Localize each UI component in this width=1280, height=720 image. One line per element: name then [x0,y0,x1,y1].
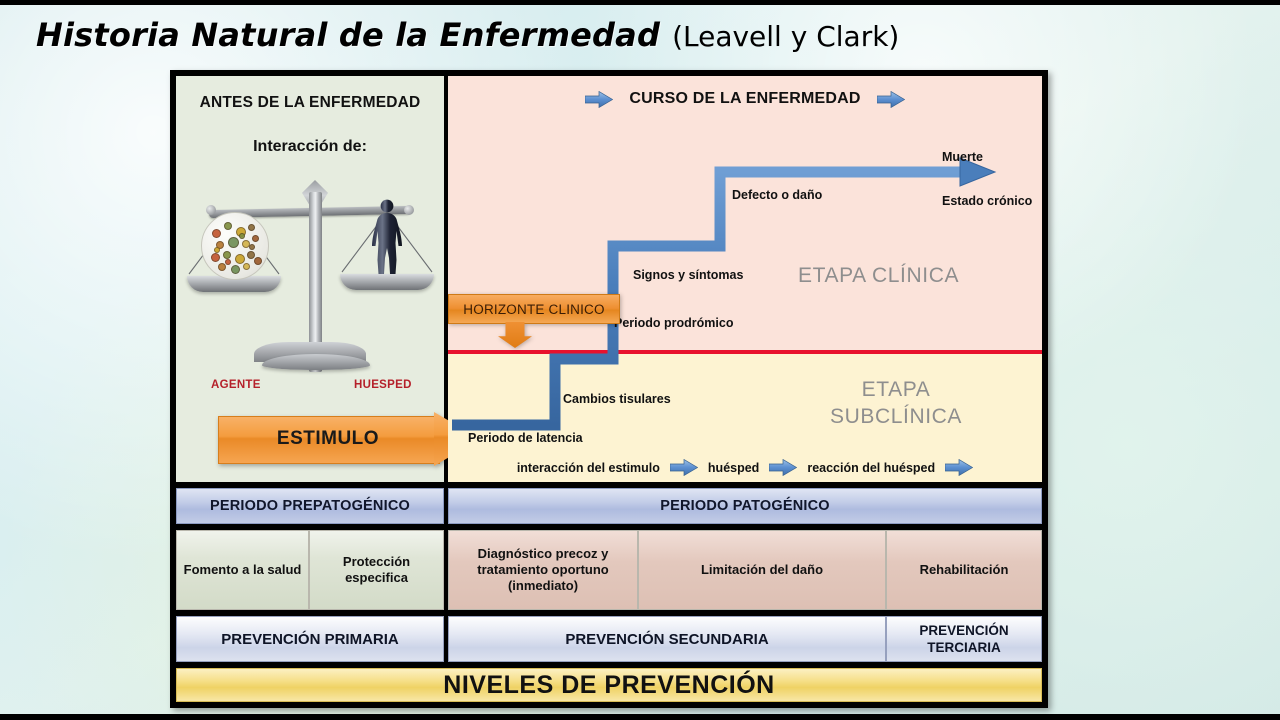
arrow-right-icon [670,459,698,476]
arrow-right-icon [585,91,613,108]
microbes-icon [201,212,269,280]
note-prodromal-period: Periodo prodrómico [614,316,733,330]
prepathogenic-heading: ANTES DE LA ENFERMEDAD [176,94,444,112]
prevention-secondary: PREVENCIÓN SECUNDARIA [448,616,886,662]
letterbox-bottom [0,714,1280,720]
page-title: Historia Natural de la Enfermedad(Leavel… [36,16,899,54]
arrow-right-icon [877,91,905,108]
balance-scale-illustration: AGENTE HUESPED MEDIO HAMBIENTE [176,166,444,381]
arrow-down-icon [498,322,532,348]
microbe-dot [212,229,221,238]
interaction-item-3: reacción del huésped [807,461,935,475]
microbe-dot [249,244,255,250]
interaction-subheading: Interacción de: [176,138,444,156]
stage-clinical-label: ETAPA CLÍNICA [798,264,959,288]
measure-specific-protection: Protección especifica [309,530,444,610]
stimulus-banner-label: ESTIMULO [218,416,438,462]
stage-subclinical-line1: ETAPA [862,378,931,401]
interaction-sequence-row: interacción del estimulo huésped reacció… [448,459,1042,476]
prevention-tertiary: PREVENCIÓN TERCIARIA [886,616,1042,662]
microbe-dot [231,265,240,274]
title-main: Historia Natural de la Enfermedad [36,16,660,54]
arrow-right-icon [769,459,797,476]
note-death: Muerte [942,150,983,164]
stage-subclinical-label: ETAPA SUBCLÍNICA [826,376,966,430]
prevention-levels-footer: NIVELES DE PREVENCIÓN [176,668,1042,702]
scale-pan-right [340,274,434,290]
note-defect-damage: Defecto o daño [732,188,822,202]
note-tissue-changes: Cambios tisulares [563,392,671,406]
period-pathogenic: PERIODO PATOGÉNICO [448,488,1042,524]
period-prepathogenic: PERIODO PREPATOGÉNICO [176,488,444,524]
stimulus-banner: ESTIMULO [218,416,438,462]
microbe-dot [248,224,255,231]
scale-label-host: HUESPED [354,379,412,391]
microbe-dot [218,263,226,271]
title-authors: (Leavell y Clark) [672,20,899,53]
clinical-horizon-line [448,350,1042,354]
microbe-dot [214,247,220,253]
measure-rehabilitation: Rehabilitación [886,530,1042,610]
stage-subclinical-line2: SUBCLÍNICA [830,405,962,428]
note-signs-symptoms: Signos y síntomas [633,268,743,282]
measure-health-promotion: Fomento a la salud [176,530,309,610]
microbe-dot [228,237,239,248]
measure-damage-limitation: Limitación del daño [638,530,886,610]
arrow-right-icon [945,459,973,476]
note-chronic-state: Estado crónico [942,194,1012,209]
microbe-dot [235,254,245,264]
prepathogenic-panel: ANTES DE LA ENFERMEDAD Interacción de: [176,76,444,482]
disease-course-heading-row: CURSO DE LA ENFERMEDAD [448,90,1042,108]
prevention-primary: PREVENCIÓN PRIMARIA [176,616,444,662]
diagram-frame: ANTES DE LA ENFERMEDAD Interacción de: [170,70,1048,708]
microbe-dot [211,253,220,262]
microbe-dot [254,257,262,265]
interaction-item-2: huésped [708,461,759,475]
microbe-dot [239,233,245,239]
human-silhouette-icon [359,198,415,276]
clinical-horizon-label: HORIZONTE CLINICO [448,294,620,324]
interaction-item-1: interacción del estimulo [517,461,660,475]
scale-base [262,354,370,370]
clinical-horizon-badge: HORIZONTE CLINICO [448,294,618,324]
microbe-dot [225,259,231,265]
microbe-dot [243,263,250,270]
microbe-dot [223,251,231,259]
note-latency-period: Periodo de latencia [468,431,583,445]
microbe-dot [224,222,232,230]
scale-label-agent: AGENTE [211,379,261,391]
microbe-dot [252,235,259,242]
disease-course-heading: CURSO DE LA ENFERMEDAD [629,90,860,108]
measure-early-diagnosis: Diagnóstico precoz y tratamiento oportun… [448,530,638,610]
pathogenic-panel: CURSO DE LA ENFERMEDAD Muerte Defecto o … [448,76,1042,482]
